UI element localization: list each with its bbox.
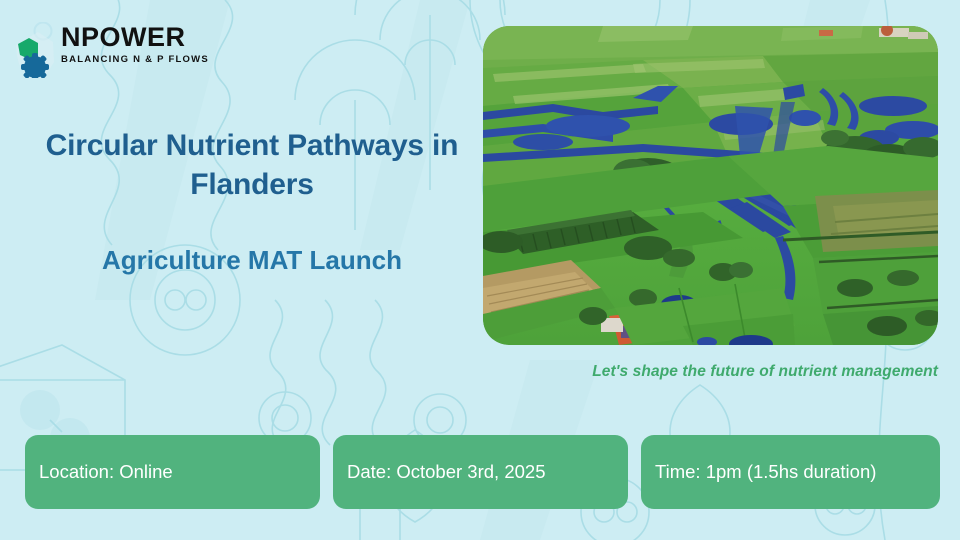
logo-wordmark: NPOWER (61, 22, 261, 52)
npower-logo-mark-icon (13, 22, 61, 78)
event-detail-date-label: Date: October 3rd, 2025 (333, 460, 557, 484)
event-detail-location: Location: Online (25, 435, 320, 509)
event-detail-time: Time: 1pm (1.5hs duration) (641, 435, 940, 509)
slide-tagline: Let's shape the future of nutrient manag… (483, 363, 938, 381)
event-detail-time-label: Time: 1pm (1.5hs duration) (641, 460, 888, 484)
npower-logo: NPOWER BALANCING N & P FLOWS (13, 22, 263, 84)
logo-tagline: BALANCING N & P FLOWS (61, 53, 261, 67)
event-details-row: Location: Online Date: October 3rd, 2025… (0, 435, 960, 509)
event-detail-location-label: Location: Online (25, 460, 185, 484)
npower-logo-text: NPOWER BALANCING N & P FLOWS (61, 22, 261, 67)
slide-headline: Circular Nutrient Pathways in Flanders (22, 126, 482, 204)
aerial-farmland-photo (483, 26, 938, 345)
logo-blue-gear (21, 53, 49, 78)
event-slide: .ln{fill:none;stroke:#aadde6;stroke-widt… (0, 0, 960, 540)
slide-subheadline: Agriculture MAT Launch (22, 243, 482, 277)
event-detail-date: Date: October 3rd, 2025 (333, 435, 628, 509)
